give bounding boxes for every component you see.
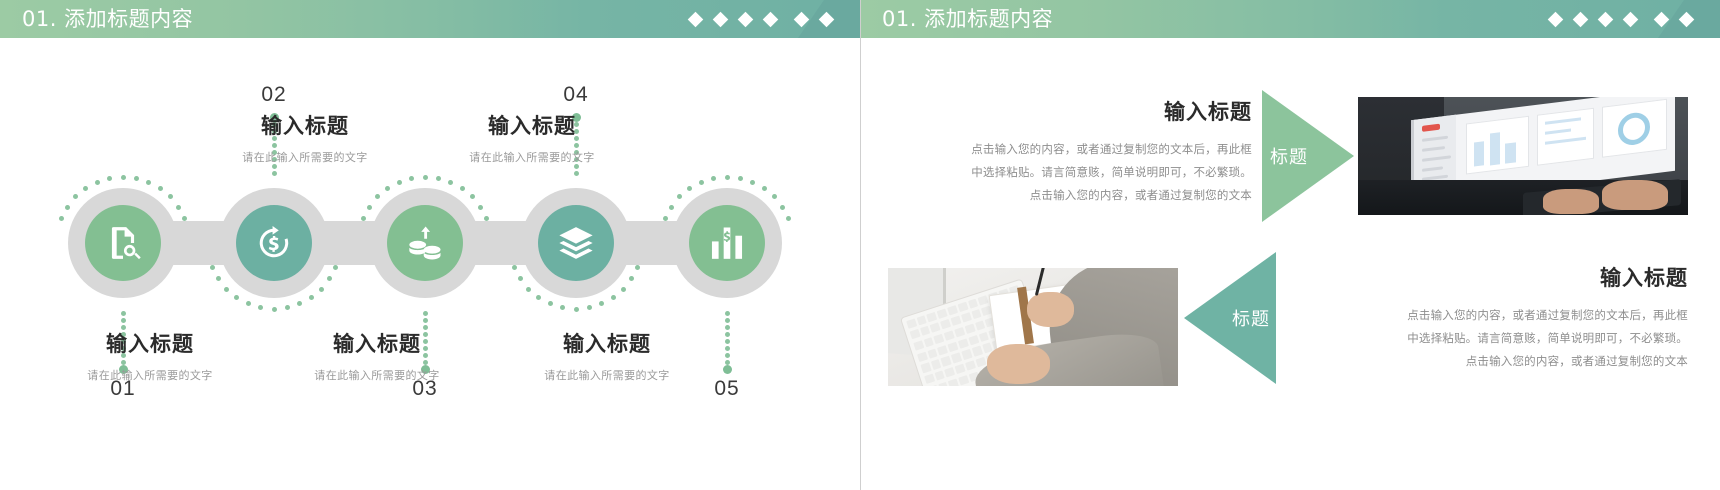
photo-2-key bbox=[937, 308, 948, 318]
photo-2-key bbox=[978, 295, 989, 305]
connector-dot bbox=[158, 186, 163, 191]
connector-dot bbox=[725, 346, 730, 351]
timeline-label-02: 输入标题请在此输入所需要的文字 bbox=[190, 110, 420, 165]
block-2-photo-desk-writing bbox=[888, 268, 1178, 386]
connector-dot bbox=[234, 295, 239, 300]
diamond-icon bbox=[794, 11, 810, 27]
photo-2-key bbox=[916, 315, 927, 325]
connector-dot bbox=[512, 265, 517, 270]
timeline-label-title: 输入标题 bbox=[417, 110, 647, 140]
photo-2-key bbox=[975, 321, 986, 331]
timeline-infographic: 0102030405输入标题请在此输入所需要的文字输入标题请在此输入所需要的文字… bbox=[0, 38, 860, 490]
connector-end-dot bbox=[723, 365, 732, 374]
photo-2-key bbox=[906, 318, 917, 328]
connector-dot bbox=[409, 176, 414, 181]
block-1-body-line-1: 点击输入您的内容，或者通过复制您的文本后，再此框 bbox=[882, 138, 1252, 161]
connector-dot bbox=[725, 339, 730, 344]
photo-2-key bbox=[938, 382, 949, 386]
connector-dot bbox=[285, 305, 290, 310]
connector-dot bbox=[272, 171, 277, 176]
timeline-label-subtitle: 请在此输入所需要的文字 bbox=[35, 367, 265, 383]
photo-2-key bbox=[924, 374, 935, 384]
node-disc bbox=[538, 205, 614, 281]
slide-divider bbox=[860, 0, 861, 490]
photo-2-key bbox=[979, 332, 990, 342]
block-1-body: 点击输入您的内容，或者通过复制您的文本后，再此框 中选择粘贴。请言简意赅，简单说… bbox=[882, 138, 1252, 207]
content-block-2-text: 输入标题 点击输入您的内容，或者通过复制您的文本后，再此框 中选择粘贴。请言简意… bbox=[1292, 262, 1688, 373]
timeline-node-05[interactable] bbox=[672, 188, 782, 298]
photo-2-key bbox=[928, 385, 939, 386]
timeline-label-subtitle: 请在此输入所需要的文字 bbox=[417, 149, 647, 165]
photo-2-key bbox=[934, 371, 945, 381]
connector-dot bbox=[621, 287, 626, 292]
block-2-body: 点击输入您的内容，或者通过复制您的文本后，再此框 中选择粘贴。请言简意赅，简单说… bbox=[1292, 304, 1688, 373]
block-1-arrow-label: 标题 bbox=[1270, 143, 1308, 169]
connector-dot bbox=[725, 311, 730, 316]
photo-2-key bbox=[962, 350, 973, 360]
block-2-body-line-3: 点击输入您的内容，或者通过复制您的文本 bbox=[1292, 350, 1688, 373]
timeline-label-03: 输入标题请在此输入所需要的文字 bbox=[262, 328, 492, 383]
connector-dot bbox=[725, 360, 730, 365]
photo-2-key bbox=[917, 352, 928, 362]
photo-2-key bbox=[955, 364, 966, 374]
photo-2-key bbox=[934, 334, 945, 344]
slide-right-header: 01. 添加标题内容 bbox=[860, 0, 1720, 38]
photo-2-writing-hand bbox=[1027, 292, 1073, 327]
content-block-1-text: 输入标题 点击输入您的内容，或者通过复制您的文本后，再此框 中选择粘贴。请言简意… bbox=[882, 96, 1252, 207]
coins-up-icon bbox=[406, 224, 444, 262]
connector-dot bbox=[333, 265, 338, 270]
connector-dot bbox=[560, 305, 565, 310]
photo-1-bar bbox=[1474, 141, 1484, 167]
dollar-refresh-icon bbox=[255, 224, 293, 262]
connector-dot bbox=[460, 186, 465, 191]
photo-2-key bbox=[920, 326, 931, 336]
timeline-label-title: 输入标题 bbox=[492, 328, 722, 358]
timeline-node-02[interactable] bbox=[219, 188, 329, 298]
connector-dot bbox=[121, 175, 126, 180]
block-1-body-line-3: 点击输入您的内容，或者通过复制您的文本 bbox=[882, 184, 1252, 207]
block-2-title: 输入标题 bbox=[1292, 262, 1688, 292]
timeline-label-04: 输入标题请在此输入所需要的文字 bbox=[417, 110, 647, 165]
connector-dot bbox=[762, 186, 767, 191]
timeline-number-02: 02 bbox=[254, 83, 294, 107]
diamond-icon bbox=[688, 11, 704, 27]
photo-2-key bbox=[927, 349, 938, 359]
slide-right: 01. 添加标题内容 输入标题 点击输入您的内容，或者通过复制您的文本后，再此框… bbox=[860, 0, 1720, 490]
connector-dot bbox=[587, 305, 592, 310]
diamond-icon bbox=[1623, 11, 1639, 27]
photo-2-key bbox=[965, 324, 976, 334]
block-2-body-line-1: 点击输入您的内容，或者通过复制您的文本后，再此框 bbox=[1292, 304, 1688, 327]
document-search-icon bbox=[104, 224, 142, 262]
connector-dot bbox=[669, 205, 674, 210]
diamond-icon bbox=[1654, 11, 1670, 27]
timeline-node-04[interactable] bbox=[521, 188, 631, 298]
timeline-node-03[interactable] bbox=[370, 188, 480, 298]
connector-dot bbox=[574, 171, 579, 176]
connector-dot bbox=[423, 311, 428, 316]
photo-2-key bbox=[959, 375, 970, 385]
photo-2-key bbox=[948, 342, 959, 352]
connector-dot bbox=[599, 301, 604, 306]
photo-2-key bbox=[948, 379, 959, 386]
connector-dot bbox=[176, 205, 181, 210]
photo-2-key bbox=[940, 320, 951, 330]
connector-dot bbox=[309, 295, 314, 300]
connector-dot bbox=[725, 325, 730, 330]
photo-2-key bbox=[968, 335, 979, 345]
connector-dot bbox=[423, 175, 428, 180]
timeline-chain bbox=[30, 188, 830, 298]
connector-dot bbox=[121, 318, 126, 323]
photo-1-bar bbox=[1505, 142, 1515, 163]
photo-2-key bbox=[930, 323, 941, 333]
photo-2-key bbox=[968, 298, 979, 308]
timeline-number-04: 04 bbox=[556, 83, 596, 107]
timeline-label-title: 输入标题 bbox=[190, 110, 420, 140]
photo-1-bar bbox=[1489, 132, 1499, 165]
header-diamond-row bbox=[1550, 0, 1692, 38]
timeline-label-title: 输入标题 bbox=[35, 328, 265, 358]
timeline-label-subtitle: 请在此输入所需要的文字 bbox=[190, 149, 420, 165]
connector-dot bbox=[780, 205, 785, 210]
header-diamond-row bbox=[690, 0, 832, 38]
block-1-body-line-2: 中选择粘贴。请言简意赅，简单说明即可，不必繁琐。 bbox=[882, 161, 1252, 184]
slide-left-header-title: 01. 添加标题内容 bbox=[22, 0, 193, 38]
connector-dot bbox=[210, 265, 215, 270]
photo-2-key bbox=[913, 341, 924, 351]
connector-dot bbox=[536, 295, 541, 300]
connector-dot bbox=[738, 176, 743, 181]
photo-2-key bbox=[945, 367, 956, 377]
connector-dot bbox=[635, 265, 640, 270]
block-2-body-line-2: 中选择粘贴。请言简意赅，简单说明即可，不必繁琐。 bbox=[1292, 327, 1688, 350]
timeline-node-01[interactable] bbox=[68, 188, 178, 298]
connector-dot bbox=[258, 305, 263, 310]
connector-dot bbox=[297, 301, 302, 306]
connector-dot bbox=[574, 307, 579, 312]
connector-dot bbox=[107, 176, 112, 181]
node-disc bbox=[236, 205, 312, 281]
diamond-icon bbox=[1598, 11, 1614, 27]
connector-dot bbox=[168, 194, 173, 199]
photo-2-resting-hand bbox=[987, 344, 1051, 384]
node-disc bbox=[85, 205, 161, 281]
block-1-title: 输入标题 bbox=[882, 96, 1252, 126]
diamond-icon bbox=[763, 11, 779, 27]
connector-dot bbox=[548, 301, 553, 306]
photo-2-key bbox=[941, 356, 952, 366]
photo-2-key bbox=[924, 337, 935, 347]
connector-dot bbox=[272, 307, 277, 312]
photo-2-key bbox=[947, 305, 958, 315]
diamond-icon bbox=[1548, 11, 1564, 27]
block-2-arrow-left: 标题 bbox=[1184, 252, 1276, 384]
photo-2-key bbox=[958, 339, 969, 349]
connector-dot bbox=[146, 180, 151, 185]
connector-dot bbox=[95, 180, 100, 185]
connector-dot bbox=[725, 353, 730, 358]
connector-dot bbox=[448, 180, 453, 185]
node-disc bbox=[689, 205, 765, 281]
photo-1-hand bbox=[1543, 189, 1599, 214]
timeline-label-title: 输入标题 bbox=[262, 328, 492, 358]
timeline-label-01: 输入标题请在此输入所需要的文字 bbox=[35, 328, 265, 383]
photo-2-key bbox=[951, 353, 962, 363]
connector-dot bbox=[750, 180, 755, 185]
photo-2-key bbox=[921, 363, 932, 373]
connector-dot bbox=[611, 295, 616, 300]
photo-2-key bbox=[972, 346, 983, 356]
diamond-icon bbox=[738, 11, 754, 27]
connector-dot bbox=[725, 318, 730, 323]
diamond-icon bbox=[819, 11, 835, 27]
slide-left-header: 01. 添加标题内容 bbox=[0, 0, 860, 38]
connector-dot bbox=[711, 176, 716, 181]
diamond-icon bbox=[713, 11, 729, 27]
connector-dot bbox=[319, 287, 324, 292]
photo-2-key bbox=[957, 302, 968, 312]
bar-chart-dollar-icon bbox=[708, 224, 746, 262]
connector-dot bbox=[436, 176, 441, 181]
connector-dot bbox=[397, 180, 402, 185]
block-2-arrow-label: 标题 bbox=[1232, 305, 1270, 331]
photo-2-key bbox=[954, 327, 965, 337]
connector-dot bbox=[65, 205, 70, 210]
connector-dot bbox=[725, 332, 730, 337]
connector-dot bbox=[367, 205, 372, 210]
slide-deck: 01. 添加标题内容 0102030405输入标题请在此输入所需要的文字输入标题… bbox=[0, 0, 1720, 490]
diamond-icon bbox=[1573, 11, 1589, 27]
connector-dot bbox=[478, 205, 483, 210]
timeline-label-subtitle: 请在此输入所需要的文字 bbox=[492, 367, 722, 383]
connector-dot bbox=[423, 318, 428, 323]
photo-2-key bbox=[971, 310, 982, 320]
connector-dot bbox=[121, 311, 126, 316]
block-1-arrow-right: 标题 bbox=[1262, 90, 1354, 222]
photo-2-key bbox=[965, 361, 976, 371]
photo-1-hand bbox=[1602, 180, 1668, 211]
photo-2-key bbox=[961, 313, 972, 323]
connector-dot bbox=[725, 175, 730, 180]
connector-dot bbox=[699, 180, 704, 185]
layers-icon bbox=[557, 224, 595, 262]
connector-dot bbox=[134, 176, 139, 181]
photo-2-key bbox=[937, 345, 948, 355]
timeline-label-subtitle: 请在此输入所需要的文字 bbox=[262, 367, 492, 383]
photo-2-key bbox=[944, 331, 955, 341]
diamond-icon bbox=[1679, 11, 1695, 27]
photo-2-key bbox=[927, 312, 938, 322]
connector-dot bbox=[470, 194, 475, 199]
connector-dot bbox=[772, 194, 777, 199]
slide-left: 01. 添加标题内容 0102030405输入标题请在此输入所需要的文字输入标题… bbox=[0, 0, 860, 490]
timeline-label-05: 输入标题请在此输入所需要的文字 bbox=[492, 328, 722, 383]
photo-2-key bbox=[951, 316, 962, 326]
node-disc bbox=[387, 205, 463, 281]
photo-2-key bbox=[931, 360, 942, 370]
slide-right-header-title: 01. 添加标题内容 bbox=[882, 0, 1053, 38]
connector-dot bbox=[246, 301, 251, 306]
photo-2-key bbox=[910, 330, 921, 340]
block-1-photo-laptop-dashboard bbox=[1358, 97, 1688, 215]
